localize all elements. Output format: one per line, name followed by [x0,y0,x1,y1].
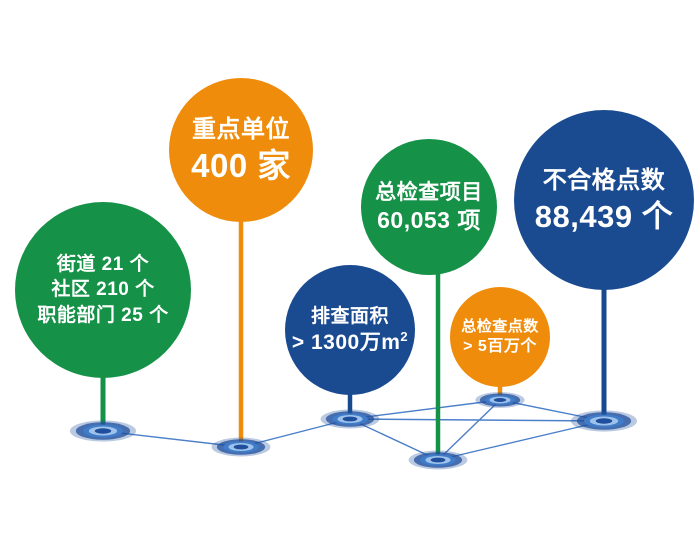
radar-ring [95,428,112,433]
bubble-line-1: 重点单位 [192,114,290,146]
bubble-streets-communities-departments[interactable]: 街道 21 个 社区 210 个 职能部门 25 个 [15,202,191,378]
bubble-key-units[interactable]: 重点单位 400 家 [169,78,313,222]
bubble-line-1: 总检查点数 [461,317,539,337]
radar-base-markers [70,392,637,469]
bubble-line-2: > 5百万个 [463,337,537,357]
radar-base [571,410,637,431]
radar-ring [431,458,446,463]
radar-base [409,451,468,470]
bubble-line-1: 总检查项目 [375,179,483,206]
bubble-surveyed-area[interactable]: 排查面积 > 1300万m2 [285,265,415,395]
radar-base [321,410,380,429]
bubble-line-1: 不合格点数 [543,165,666,197]
connection-line [350,419,604,421]
bubble-line-2: 社区 210 个 [51,277,154,302]
infographic-canvas: 街道 21 个 社区 210 个 职能部门 25 个 重点单位 400 家 总检… [0,0,700,553]
bubble-line-3: 职能部门 25 个 [37,303,168,328]
bubble-line-1: 街道 21 个 [57,252,149,277]
bubble-total-inspection-points[interactable]: 总检查点数 > 5百万个 [450,287,550,387]
bubble-line-1: 排查面积 [311,304,389,330]
radar-ring [234,445,249,450]
connection-line [438,400,500,460]
bubble-line-2: 400 家 [191,146,291,186]
radar-base [475,392,524,408]
radar-ring [596,418,613,423]
bubble-total-inspection-items[interactable]: 总检查项目 60,053 项 [361,139,497,275]
radar-ring [494,398,506,402]
bubble-line-2: 88,439 个 [535,198,673,235]
bubble-line-2: > 1300万m2 [292,330,408,356]
bubble-failed-points[interactable]: 不合格点数 88,439 个 [514,110,694,290]
connection-lines [103,400,604,460]
radar-base [70,420,136,441]
bubble-line-2: 60,053 项 [377,206,481,235]
radar-base [212,438,271,457]
radar-ring [343,417,358,422]
